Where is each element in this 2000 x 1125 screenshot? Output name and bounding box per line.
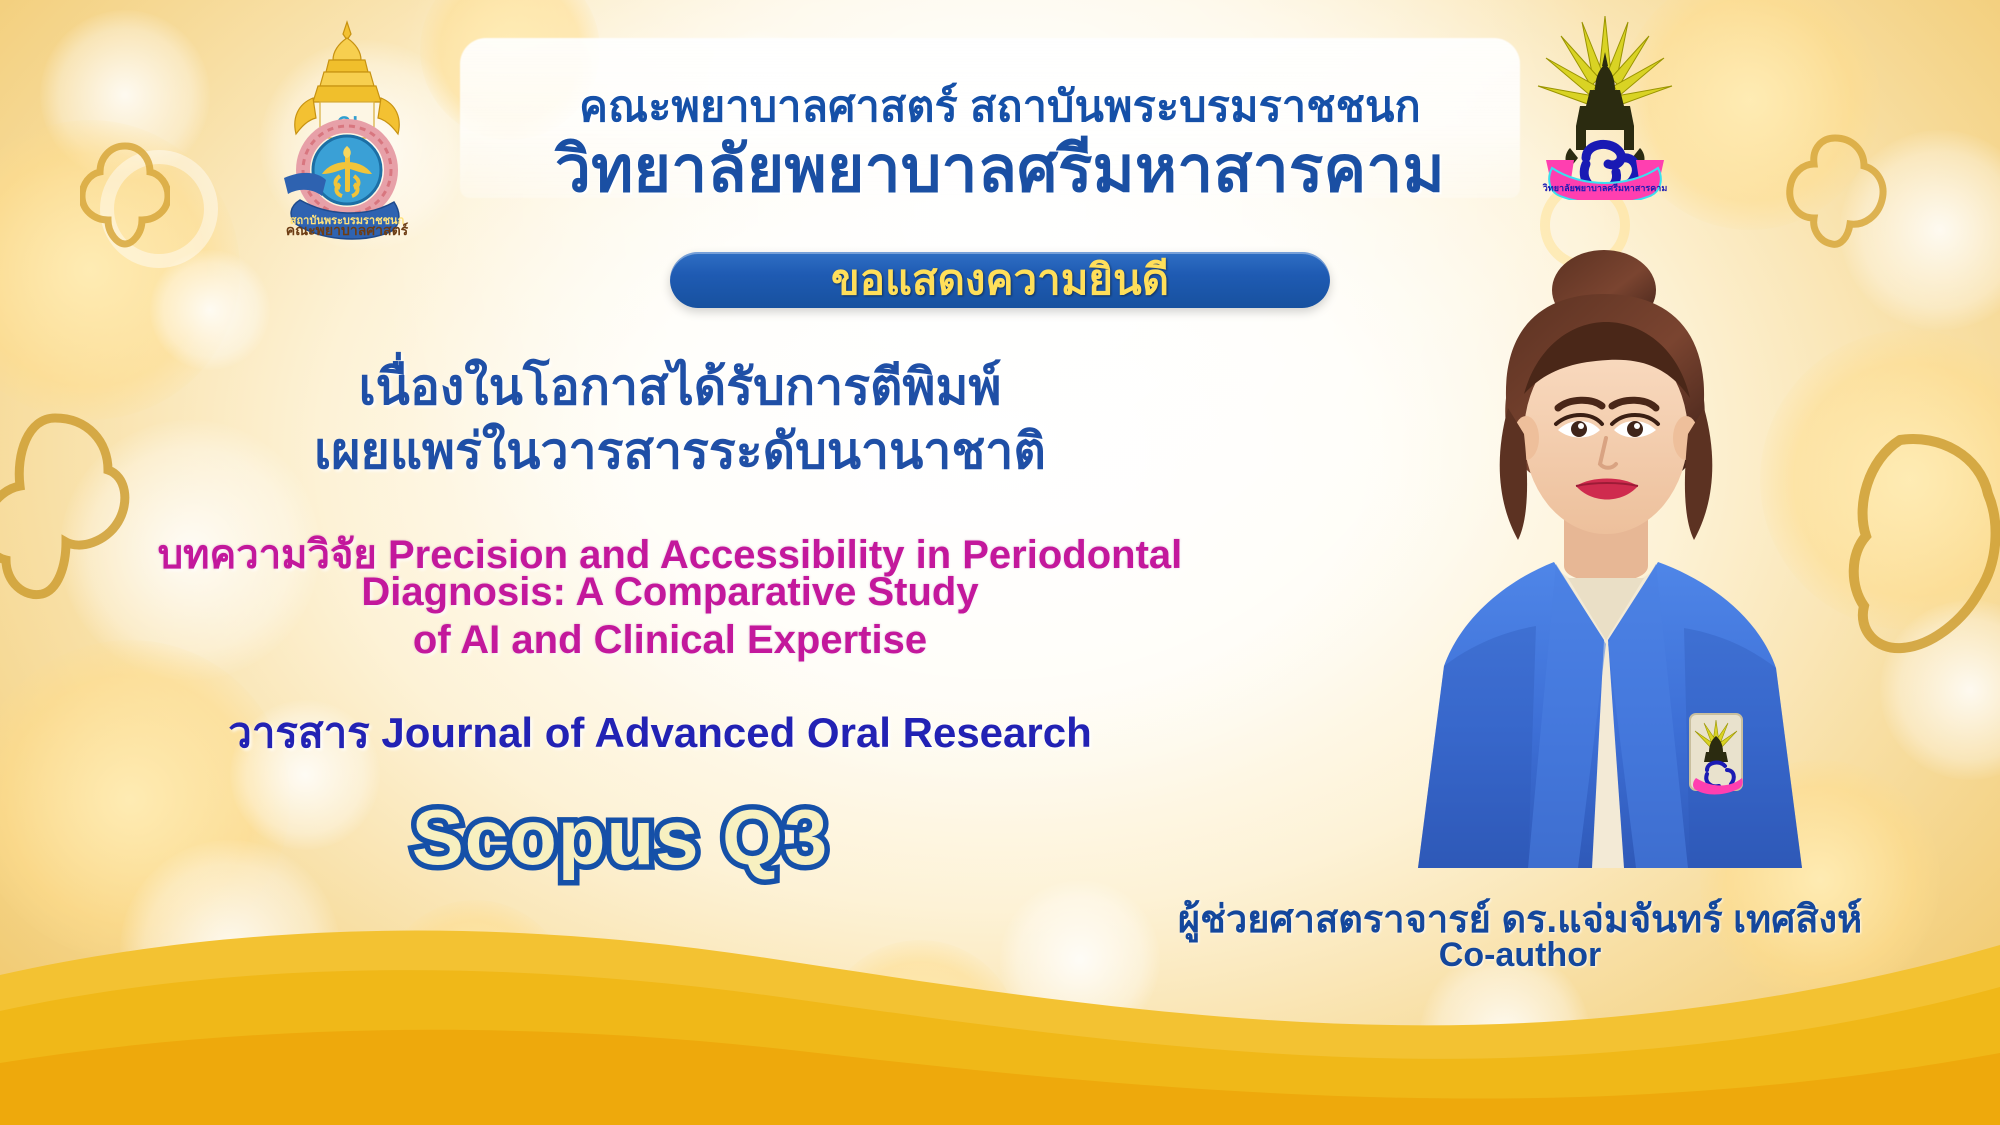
congratulations-badge-label: ขอแสดงความยินดี [831, 247, 1169, 313]
article-title-line-3: of AI and Clinical Expertise [0, 618, 1340, 663]
congratulations-badge: ขอแสดงความยินดี [670, 252, 1330, 308]
occasion-line-2: เผยแพร่ในวารสารระดับนานาชาติ [0, 412, 1360, 491]
scopus-quartile-label: Scopus Q3 [412, 792, 828, 883]
author-role: Co-author [1080, 936, 1960, 975]
journal-name: วารสาร Journal of Advanced Oral Research [0, 700, 1320, 766]
thai-motif-bottom-right [1880, 980, 1990, 1110]
article-title-line-2: Diagnosis: A Comparative Study [0, 570, 1340, 615]
congratulations-poster: ฌ สถาบันพระบรมราชชนก คณะพยาบาลศาสตร์ [0, 0, 2000, 1125]
thai-motif-right-middle [1840, 430, 2000, 660]
left-logo-caption: คณะพยาบาลศาสตร์ [262, 220, 432, 242]
author-portrait [1378, 248, 1836, 868]
header-line-college: วิทยาลัยพยาบาลศรีมหาสารคาม [0, 118, 2000, 220]
scopus-quartile-badge: Scopus Q3 [0, 792, 1240, 883]
